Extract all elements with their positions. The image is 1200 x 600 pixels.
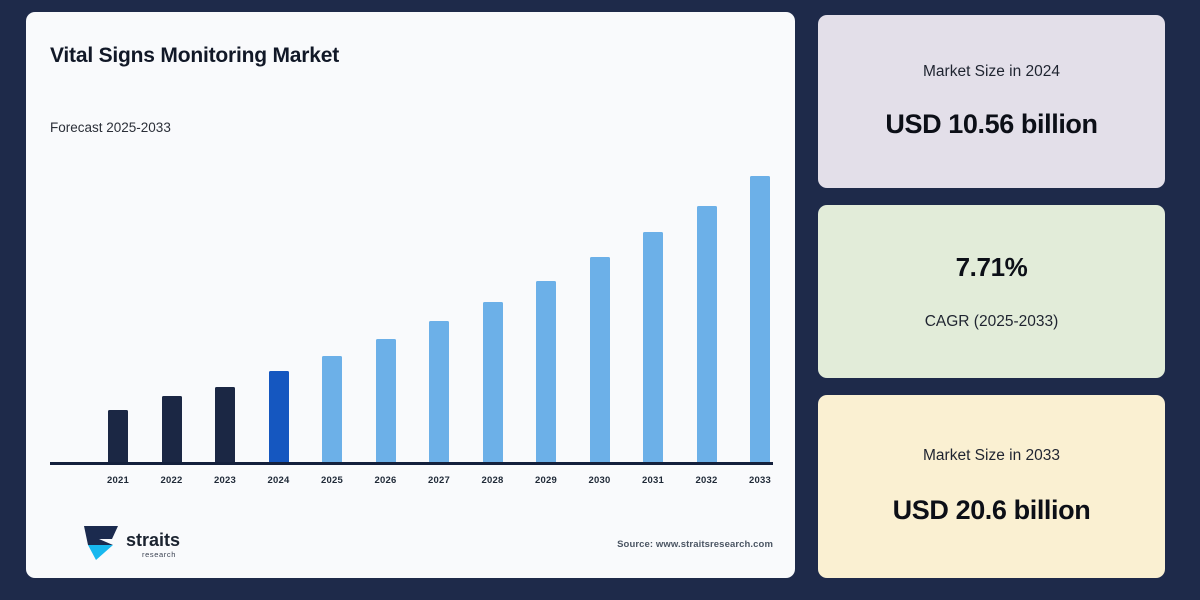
stat-card-caption: CAGR (2025-2033) [925, 313, 1059, 331]
x-axis-tick-label: 2032 [681, 475, 733, 486]
x-axis-tick-label: 2022 [146, 475, 198, 486]
bar[interactable] [536, 281, 556, 462]
svg-text:straits: straits [126, 530, 180, 550]
stat-card-caption: Market Size in 2024 [923, 63, 1060, 81]
stat-card-market-size-2024: Market Size in 2024 USD 10.56 billion [818, 15, 1165, 188]
x-axis-tick-label: 2023 [199, 475, 251, 486]
bar-chart-plot-area: 2021202220232024202520262027202820292030… [26, 12, 795, 578]
bar[interactable] [215, 387, 235, 462]
bar[interactable] [429, 321, 449, 462]
stat-card-caption: Market Size in 2033 [923, 447, 1060, 465]
x-axis-tick-label: 2025 [306, 475, 358, 486]
bar[interactable] [750, 176, 770, 462]
stat-card-value: USD 20.6 billion [893, 495, 1091, 526]
svg-text:research: research [142, 550, 176, 559]
x-axis-tick-label: 2033 [734, 475, 786, 486]
x-axis-tick-label: 2029 [520, 475, 572, 486]
stat-card-value: USD 10.56 billion [885, 109, 1097, 140]
source-attribution: Source: www.straitsresearch.com [617, 539, 773, 550]
bar[interactable] [376, 339, 396, 462]
x-axis-tick-label: 2030 [574, 475, 626, 486]
bar[interactable] [483, 302, 503, 462]
bar[interactable] [643, 232, 663, 462]
stat-card-market-size-2033: Market Size in 2033 USD 20.6 billion [818, 395, 1165, 578]
x-axis-tick-label: 2026 [360, 475, 412, 486]
bar[interactable] [590, 257, 610, 462]
bar[interactable] [269, 371, 289, 462]
bar[interactable] [322, 356, 342, 462]
bar[interactable] [162, 396, 182, 462]
x-axis-tick-label: 2028 [467, 475, 519, 486]
x-axis-line [50, 462, 773, 465]
bar[interactable] [108, 410, 128, 462]
stat-card-value: 7.71% [956, 252, 1028, 283]
bar[interactable] [697, 206, 717, 462]
x-axis-tick-label: 2021 [92, 475, 144, 486]
stat-card-cagr: 7.71% CAGR (2025-2033) [818, 205, 1165, 378]
x-axis-tick-label: 2027 [413, 475, 465, 486]
straits-research-logo: straits research [82, 520, 202, 566]
chart-panel: Vital Signs Monitoring Market Forecast 2… [26, 12, 795, 578]
x-axis-tick-label: 2024 [253, 475, 305, 486]
x-axis-tick-label: 2031 [627, 475, 679, 486]
